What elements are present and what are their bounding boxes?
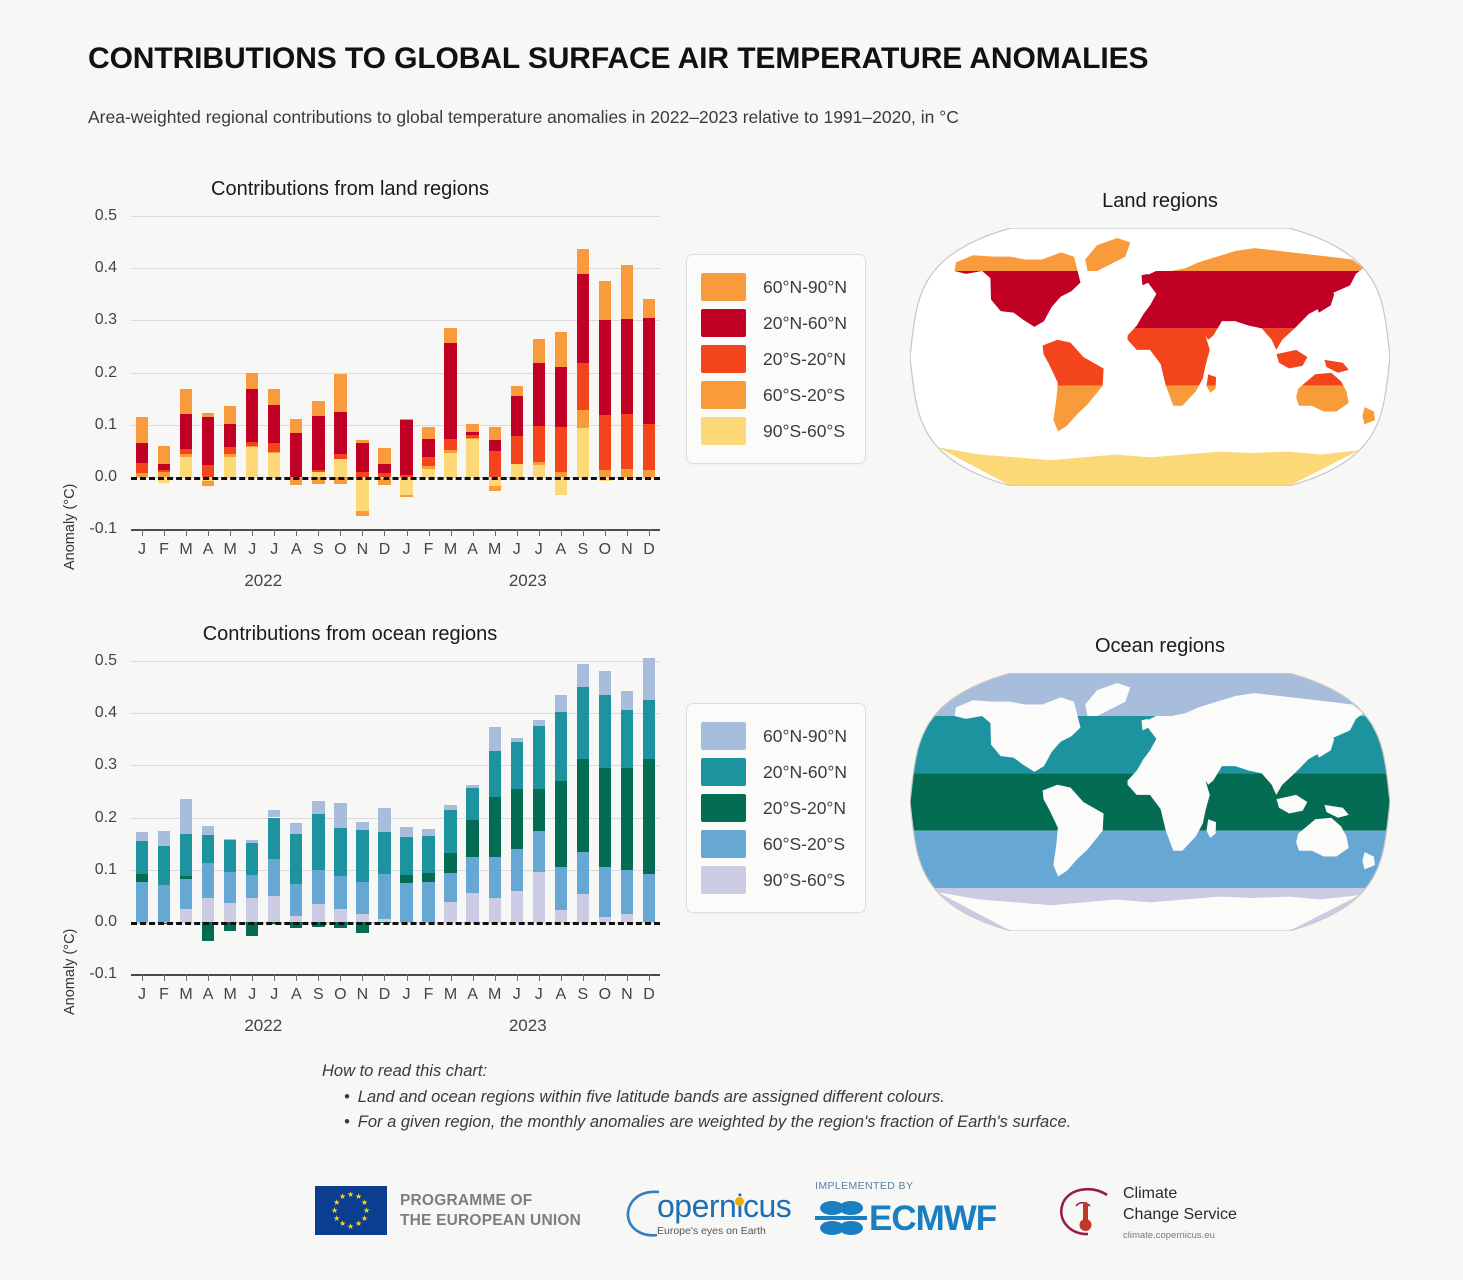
x-axis-tick [362, 974, 363, 981]
how-to-read-heading: How to read this chart: [322, 1062, 1071, 1081]
bar-segment [334, 374, 346, 412]
bar [202, 661, 214, 974]
bar-segment [202, 835, 214, 863]
x-axis-tick [208, 974, 209, 981]
ecmwf-implemented-by-label: IMPLEMENTED BY [815, 1180, 913, 1192]
bar-segment [180, 909, 192, 922]
bar-segment [466, 438, 478, 439]
bar-segment [180, 799, 192, 834]
ocean-map-graphic [910, 673, 1390, 931]
eu-logo-line1: PROGRAMME OF [400, 1191, 581, 1210]
x-axis-month-label: J [535, 986, 543, 1004]
legend-color-swatch [701, 309, 746, 337]
legend-item[interactable]: 20°S-20°N [701, 341, 847, 377]
x-axis-month-label: N [357, 541, 369, 559]
bar-segment [136, 882, 148, 922]
bar-segment [555, 695, 567, 712]
bar-segment [180, 414, 192, 449]
bar-segment [444, 450, 456, 453]
bar [290, 216, 302, 529]
bar-segment [643, 470, 655, 477]
x-axis-month-label: A [203, 541, 214, 559]
bar-segment [422, 469, 434, 477]
x-axis-tick [495, 974, 496, 981]
x-axis-tick [561, 974, 562, 981]
x-axis-month-label: M [224, 986, 237, 1004]
x-axis-month-label: M [179, 986, 192, 1004]
bar [246, 661, 258, 974]
bar-segment [577, 664, 589, 687]
bar-segment [334, 803, 346, 828]
bar [489, 216, 501, 529]
legend-color-swatch [701, 345, 746, 373]
legend-item-label: 60°N-90°N [763, 277, 847, 298]
bar-segment [246, 442, 258, 445]
bar [511, 661, 523, 974]
x-axis-tick [539, 974, 540, 981]
bar-segment [290, 433, 302, 477]
bar [246, 216, 258, 529]
bar [180, 216, 192, 529]
bar-segment [422, 466, 434, 469]
bar-segment [334, 412, 346, 455]
x-axis-month-label: D [643, 541, 655, 559]
bar [202, 216, 214, 529]
bar-segment [489, 440, 501, 450]
x-axis-month-label: J [513, 541, 521, 559]
x-axis-month-label: M [444, 986, 457, 1004]
bar-segment [533, 831, 545, 873]
legend-item[interactable]: 60°N-90°N [701, 718, 847, 754]
x-axis-tick [407, 529, 408, 536]
c3s-logo: Climate Change Service climate.copernicu… [1058, 1184, 1237, 1241]
bar-segment [202, 413, 214, 417]
legend-item-label: 90°S-60°S [763, 870, 845, 891]
x-axis-month-label: M [488, 986, 501, 1004]
bar-segment [400, 495, 412, 497]
ocean-map-title: Ocean regions [910, 635, 1410, 658]
bar-segment [224, 406, 236, 424]
x-axis-month-label: A [467, 541, 478, 559]
x-axis-tick [186, 529, 187, 536]
copernicus-name: opernicus [657, 1190, 791, 1222]
x-axis-year-label: 2023 [509, 571, 547, 591]
bar-segment [643, 318, 655, 424]
ocean-regions-map: Ocean regions [910, 635, 1410, 955]
x-axis-tick [252, 529, 253, 536]
bar-segment [577, 759, 589, 853]
bar-segment [180, 834, 192, 876]
x-axis-tick [605, 974, 606, 981]
bar [533, 661, 545, 974]
bar [158, 216, 170, 529]
bar-segment [599, 671, 611, 694]
bar-segment [643, 759, 655, 875]
bar-segment [621, 870, 633, 914]
bar-segment [356, 477, 368, 511]
x-axis-tick [296, 529, 297, 536]
x-axis-month-label: S [313, 986, 324, 1004]
bar-segment [224, 839, 236, 840]
bar-segment [577, 687, 589, 758]
legend-item[interactable]: 90°S-60°S [701, 413, 847, 449]
ecmwf-logo: IMPLEMENTED BY ECMWF [815, 1180, 996, 1240]
land-legend: 60°N-90°N20°N-60°N20°S-20°N60°S-20°S90°S… [686, 254, 866, 464]
bar-segment [555, 781, 567, 867]
land-map-title: Land regions [910, 190, 1410, 213]
bar-segment [268, 453, 280, 476]
c3s-line1: Climate [1123, 1184, 1237, 1205]
x-axis-month-label: O [599, 986, 611, 1004]
x-axis-month-label: N [357, 986, 369, 1004]
y-axis-tick-label: 0.1 [95, 416, 117, 434]
x-axis-tick [164, 974, 165, 981]
bar-segment [158, 846, 170, 885]
bar-segment [246, 875, 258, 898]
y-axis-tick-label: 0.5 [95, 207, 117, 225]
x-axis-month-label: J [403, 986, 411, 1004]
bar-segment [136, 874, 148, 882]
zero-reference-line [131, 922, 660, 925]
bar-segment [246, 373, 258, 390]
bar [180, 661, 192, 974]
bar-segment [334, 828, 346, 876]
bar-segment [312, 814, 324, 869]
bar-segment [202, 481, 214, 486]
bar-segment [312, 904, 324, 922]
page-subtitle: Area-weighted regional contributions to … [88, 107, 959, 128]
bar-segment [577, 428, 589, 477]
x-axis-month-label: O [599, 541, 611, 559]
bar-segment [202, 898, 214, 921]
bar-segment [290, 884, 302, 915]
how-to-read-block: How to read this chart: •Land and ocean … [322, 1062, 1071, 1138]
land-chart-title: Contributions from land regions [130, 178, 570, 201]
x-axis-year-label: 2022 [244, 571, 282, 591]
legend-color-swatch [701, 381, 746, 409]
bar [422, 216, 434, 529]
y-axis-tick-label: -0.1 [89, 965, 117, 983]
footer-logos: ★★★★★★★★★★★★ PROGRAMME OF THE EUROPEAN U… [0, 1178, 1463, 1258]
x-axis-tick [296, 974, 297, 981]
bar-segment [202, 826, 214, 835]
bar-segment [555, 367, 567, 427]
x-axis-month-label: A [203, 986, 214, 1004]
bar-segment [621, 710, 633, 768]
bar [158, 661, 170, 974]
bar-segment [356, 440, 368, 443]
legend-item[interactable]: 90°S-60°S [701, 862, 847, 898]
x-axis-month-label: J [138, 541, 146, 559]
x-axis-month-label: S [578, 541, 589, 559]
x-axis-month-label: J [535, 541, 543, 559]
bar-segment [444, 453, 456, 476]
bar [621, 216, 633, 529]
bar [400, 661, 412, 974]
bar-segment [180, 879, 192, 909]
bar-segment [621, 319, 633, 414]
bar-segment [202, 863, 214, 898]
x-axis-month-label: A [291, 986, 302, 1004]
y-axis-tick-label: 0.0 [95, 913, 117, 931]
x-axis-month-label: O [334, 986, 346, 1004]
bar-segment [422, 873, 434, 882]
x-axis-tick [649, 529, 650, 536]
eu-star-icon: ★ [355, 1220, 362, 1228]
y-axis-tick-label: 0.0 [95, 468, 117, 486]
copernicus-logo: opernicus Europe's eyes on Earth [625, 1186, 791, 1240]
x-axis-tick [627, 529, 628, 536]
bar-segment [511, 436, 523, 465]
c3s-line2: Change Service [1123, 1205, 1237, 1226]
bar-segment [643, 700, 655, 759]
legend-color-swatch [701, 417, 746, 445]
bar-segment [378, 479, 390, 484]
bar-segment [599, 415, 611, 470]
x-axis-month-label: D [643, 986, 655, 1004]
bar-segment [466, 788, 478, 820]
eu-star-icon: ★ [333, 1215, 340, 1223]
bullet-icon: • [344, 1088, 350, 1106]
bar-segment [268, 818, 280, 860]
bar [555, 216, 567, 529]
bar [356, 661, 368, 974]
x-axis-tick [164, 529, 165, 536]
bar [444, 216, 456, 529]
bar [334, 216, 346, 529]
bar-segment [599, 470, 611, 477]
bar-segment [511, 738, 523, 742]
bar-segment [466, 424, 478, 432]
bar-segment [400, 883, 412, 922]
land-regions-map: Land regions [910, 190, 1410, 510]
bar-segment [180, 876, 192, 879]
land-plot-area: -0.10.00.10.20.30.40.5JFMAMJJASONDJFMAMJ… [131, 216, 660, 529]
x-axis-tick [429, 529, 430, 536]
x-axis-tick [274, 529, 275, 536]
x-axis-tick [274, 974, 275, 981]
copernicus-dot-icon [735, 1197, 744, 1206]
bar-segment [246, 843, 258, 875]
bar-segment [533, 426, 545, 463]
bar [268, 661, 280, 974]
bar [643, 216, 655, 529]
bar [400, 216, 412, 529]
x-axis-tick [208, 529, 209, 536]
bar-segment [378, 832, 390, 875]
land-chart: Contributions from land regions Anomaly … [0, 170, 700, 600]
x-axis-tick [583, 529, 584, 536]
bar-segment [621, 265, 633, 319]
ecmwf-mark-icon [815, 1196, 869, 1240]
bar-segment [202, 465, 214, 476]
bar-segment [136, 841, 148, 874]
bar-segment [136, 832, 148, 841]
bar [290, 661, 302, 974]
bar [533, 216, 545, 529]
bar-segment [466, 435, 478, 438]
bar-segment [466, 857, 478, 894]
x-axis-tick [451, 974, 452, 981]
bar-segment [356, 511, 368, 516]
y-axis-tick-label: 0.4 [95, 704, 117, 722]
x-axis-tick [384, 974, 385, 981]
bar [136, 216, 148, 529]
bar-segment [334, 459, 346, 477]
x-axis-year-label: 2022 [244, 1016, 282, 1036]
bar-segment [378, 464, 390, 473]
bar-segment [621, 768, 633, 870]
x-axis-month-label: F [424, 986, 434, 1004]
bar-segment [599, 695, 611, 768]
bar-segment [599, 867, 611, 917]
x-axis-year-label: 2023 [509, 1016, 547, 1036]
bar-segment [180, 457, 192, 477]
bar-segment [621, 414, 633, 469]
x-axis-tick [583, 974, 584, 981]
bar-segment [444, 805, 456, 810]
bar-segment [356, 882, 368, 914]
legend-item[interactable]: 20°N-60°N [701, 305, 847, 341]
bar-segment [268, 443, 280, 451]
bar-segment [555, 712, 567, 781]
y-axis-tick-label: 0.2 [95, 809, 117, 827]
bar-segment [422, 882, 434, 922]
bar-segment [511, 849, 523, 891]
bar-segment [555, 867, 567, 910]
bar-segment [246, 389, 258, 442]
ocean-chart: Contributions from ocean regions Anomaly… [0, 615, 700, 1045]
bullet-icon: • [344, 1113, 350, 1131]
bar-segment [643, 874, 655, 921]
c3s-thermometer-icon [1058, 1186, 1112, 1238]
bar-segment [489, 857, 501, 899]
bar-segment [158, 446, 170, 464]
x-axis-month-label: N [621, 541, 633, 559]
x-axis-tick [186, 974, 187, 981]
bar-segment [489, 898, 501, 921]
bar-segment [599, 320, 611, 415]
bar-segment [489, 451, 501, 477]
legend-item[interactable]: 20°N-60°N [701, 754, 847, 790]
bar-segment [555, 332, 567, 367]
legend-color-swatch [701, 722, 746, 750]
bar-segment [489, 751, 501, 797]
x-axis-month-label: F [159, 541, 169, 559]
y-axis-tick-label: 0.2 [95, 364, 117, 382]
bar-segment [246, 447, 258, 477]
bar-segment [489, 797, 501, 857]
bar-segment [444, 853, 456, 873]
eu-star-icon: ★ [347, 1191, 354, 1199]
x-axis-tick [230, 974, 231, 981]
bar-segment [511, 386, 523, 396]
bar-segment [422, 829, 434, 836]
bar-segment [643, 299, 655, 317]
bar-segment [466, 785, 478, 788]
bar-segment [334, 454, 346, 458]
bar-segment [577, 363, 589, 410]
bar-segment [577, 274, 589, 363]
bar [378, 661, 390, 974]
x-axis-tick [473, 974, 474, 981]
bar-segment [224, 903, 236, 922]
how-to-read-item: •For a given region, the monthly anomali… [344, 1113, 1071, 1132]
bar-segment [334, 876, 346, 909]
bar-segment [334, 909, 346, 922]
bar [136, 661, 148, 974]
x-axis-month-label: A [467, 986, 478, 1004]
x-axis-month-label: J [248, 541, 256, 559]
bar-segment [533, 720, 545, 726]
legend-color-swatch [701, 830, 746, 858]
x-axis-month-label: J [270, 541, 278, 559]
x-axis-tick [473, 529, 474, 536]
legend-item[interactable]: 20°S-20°N [701, 790, 847, 826]
y-axis-tick-label: 0.3 [95, 311, 117, 329]
bar-segment [224, 424, 236, 447]
bar-segment [466, 893, 478, 922]
bar-segment [246, 446, 258, 448]
legend-color-swatch [701, 273, 746, 301]
x-axis-tick [407, 974, 408, 981]
x-axis-tick [649, 974, 650, 981]
bar-segment [533, 339, 545, 364]
eu-star-icon: ★ [331, 1207, 338, 1215]
bar-segment [577, 852, 589, 894]
bar-segment [136, 463, 148, 472]
bar-segment [533, 872, 545, 922]
bar-segment [312, 801, 324, 815]
x-axis-month-label: S [313, 541, 324, 559]
bar [599, 216, 611, 529]
legend-item[interactable]: 60°S-20°S [701, 377, 847, 413]
bar-segment [577, 249, 589, 274]
eu-star-icon: ★ [339, 1193, 346, 1201]
bar-segment [224, 840, 236, 872]
bar-segment [136, 417, 148, 443]
bar-segment [577, 894, 589, 922]
bar-segment [577, 410, 589, 428]
x-axis-month-label: M [488, 541, 501, 559]
bar-segment [378, 874, 390, 918]
legend-item[interactable]: 60°N-90°N [701, 269, 847, 305]
legend-item-label: 60°S-20°S [763, 385, 845, 406]
bar [334, 661, 346, 974]
bar [224, 661, 236, 974]
bar-segment [180, 454, 192, 457]
x-axis-month-label: A [291, 541, 302, 559]
legend-item-label: 60°N-90°N [763, 726, 847, 747]
legend-item[interactable]: 60°S-20°S [701, 826, 847, 862]
bar-segment [312, 401, 324, 417]
x-axis-tick [142, 529, 143, 536]
bar [466, 216, 478, 529]
bar-segment [511, 396, 523, 436]
x-axis-month-label: S [578, 986, 589, 1004]
bar-segment [180, 449, 192, 454]
bar-segment [643, 424, 655, 470]
bar-segment [378, 448, 390, 464]
x-axis-tick [517, 974, 518, 981]
bar-segment [158, 464, 170, 469]
bar-segment [312, 416, 324, 469]
bar-segment [312, 470, 324, 473]
bar-segment [555, 910, 567, 921]
bar-segment [136, 443, 148, 463]
bar-segment [224, 454, 236, 457]
x-axis-month-label: J [403, 541, 411, 559]
